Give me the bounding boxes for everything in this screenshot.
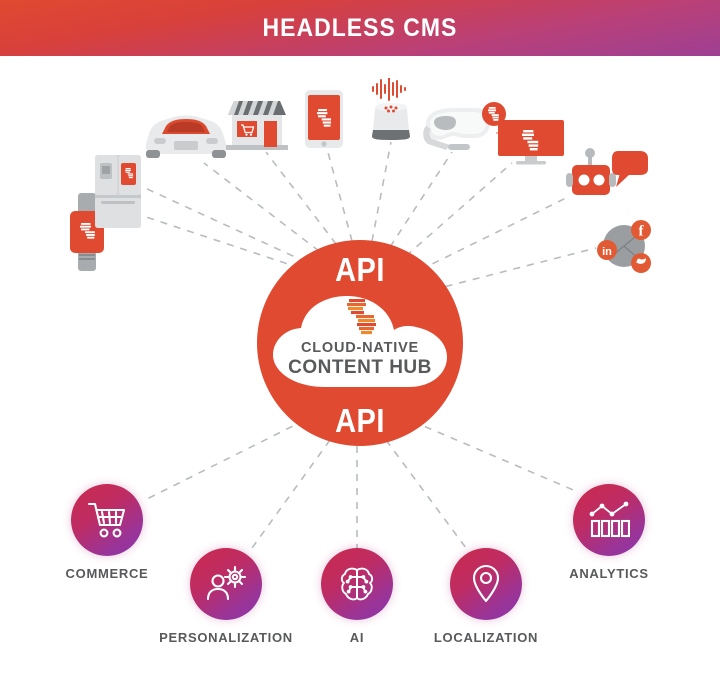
- speech-bubble-icon: [612, 151, 648, 175]
- channel-analytics[interactable]: ANALYTICS: [573, 484, 645, 556]
- channel-ai[interactable]: AI: [321, 548, 393, 620]
- smart-speaker-icon: [365, 78, 417, 142]
- page-title: HEADLESS CMS: [263, 14, 458, 43]
- bar-chart-line-icon: [588, 501, 630, 539]
- device-smartphone: [305, 90, 343, 148]
- vr-headset-icon: [420, 100, 506, 156]
- connector-speaker: [372, 142, 391, 241]
- device-smart-speaker: [365, 78, 417, 142]
- channel-localization-bubble[interactable]: [450, 548, 522, 620]
- smart-tv-icon: [498, 120, 564, 166]
- channel-analytics-bubble[interactable]: [573, 484, 645, 556]
- user-gear-icon: [205, 565, 247, 603]
- channel-localization-label: LOCALIZATION: [434, 630, 538, 645]
- connector-car: [204, 163, 319, 251]
- channel-personalization[interactable]: PERSONALIZATION: [190, 548, 262, 620]
- robot-eye-left-icon: [579, 175, 590, 186]
- hub-title-line1: CLOUD-NATIVE: [243, 340, 477, 356]
- channel-localization[interactable]: LOCALIZATION: [450, 548, 522, 620]
- connector-store: [266, 152, 336, 244]
- brain-circuit-icon: [338, 565, 376, 603]
- chatbot-robot-icon: [560, 145, 652, 207]
- device-social-media: f in: [596, 216, 654, 276]
- header-banner: HEADLESS CMS: [0, 0, 720, 56]
- smart-refrigerator-icon: [95, 155, 141, 228]
- device-vr-headset: [420, 100, 506, 156]
- retail-storefront-icon: [226, 95, 288, 151]
- robot-eye-right-icon: [594, 175, 605, 186]
- map-pin-icon: [470, 564, 502, 604]
- device-chatbot: [560, 145, 652, 207]
- sound-wave-icon: [373, 78, 405, 100]
- connector-tv: [406, 163, 512, 256]
- shopping-cart-icon: [87, 501, 127, 539]
- channel-analytics-label: ANALYTICS: [569, 566, 649, 581]
- connected-car-icon: [144, 112, 228, 164]
- connector-localization: [386, 440, 466, 548]
- channel-ai-label: AI: [350, 630, 364, 645]
- channel-commerce[interactable]: COMMERCE: [71, 484, 143, 556]
- connector-social: [432, 248, 596, 290]
- connector-smartphone: [326, 145, 352, 241]
- smartphone-icon: [305, 90, 343, 148]
- social-network-globe-icon: f in: [596, 216, 654, 276]
- channel-ai-bubble[interactable]: [321, 548, 393, 620]
- connector-personalization: [252, 440, 330, 548]
- channel-personalization-label: PERSONALIZATION: [159, 630, 293, 645]
- cloud-badge: CLOUD-NATIVE CONTENT HUB: [243, 293, 477, 391]
- channel-commerce-label: COMMERCE: [66, 566, 149, 581]
- device-smart-tv: [498, 120, 564, 166]
- stacked-s-logo-icon: [345, 297, 379, 335]
- device-car: [144, 112, 228, 164]
- api-label-bottom: API: [269, 402, 450, 440]
- device-store: [226, 95, 288, 151]
- api-label-top: API: [269, 251, 450, 289]
- hub-title-line2: CONTENT HUB: [243, 357, 477, 379]
- svg-text:in: in: [602, 246, 612, 258]
- connector-vr: [390, 152, 452, 247]
- channel-personalization-bubble[interactable]: [190, 548, 262, 620]
- device-refrigerator: [95, 155, 141, 228]
- channel-commerce-bubble[interactable]: [71, 484, 143, 556]
- diagram-canvas: HEADLESS CMS API API: [0, 0, 720, 679]
